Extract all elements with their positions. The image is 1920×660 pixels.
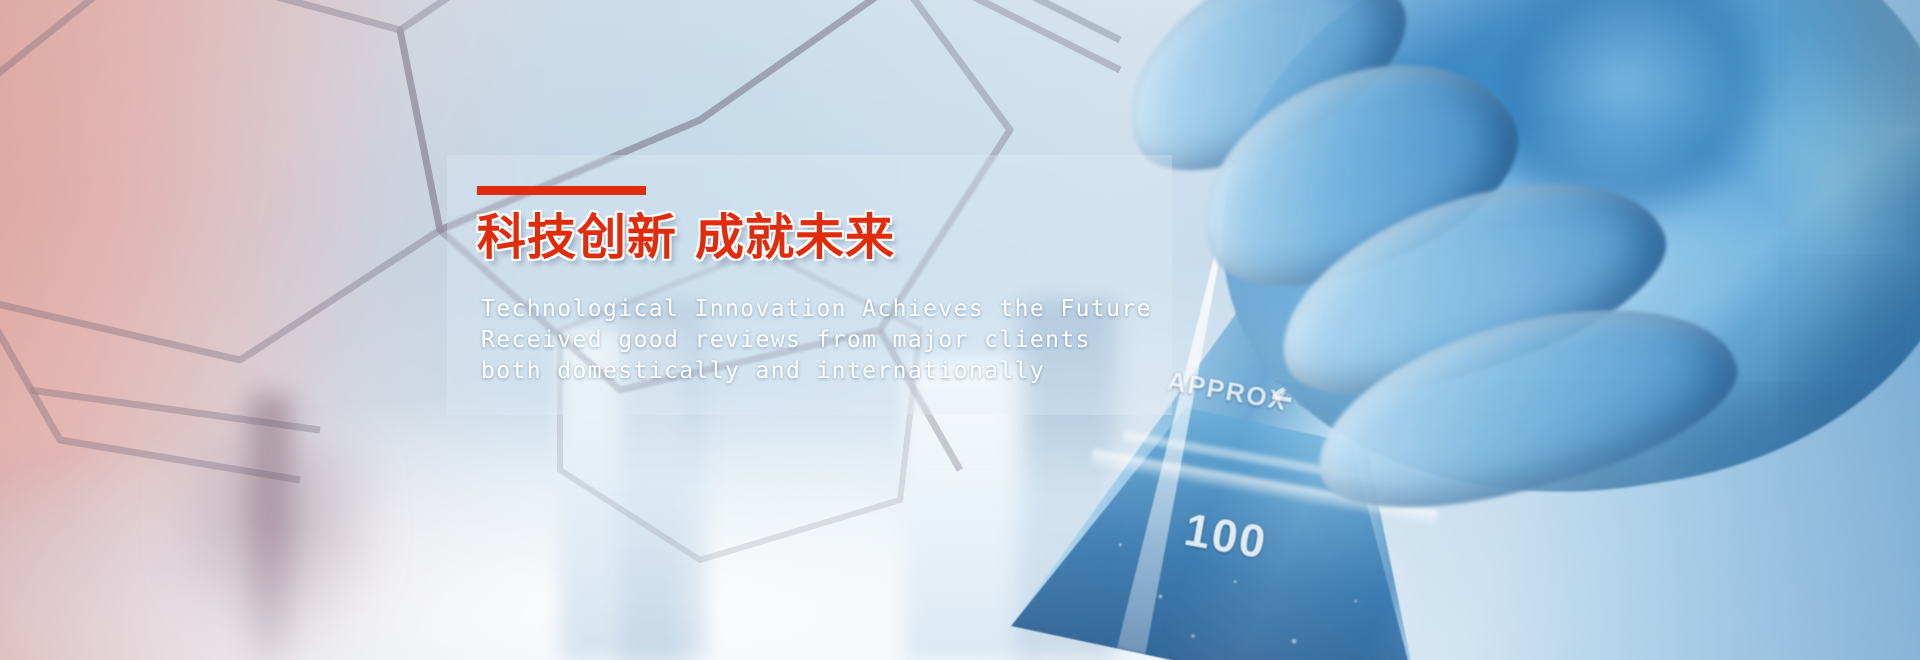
headline-chinese: 科技创新 成就未来 bbox=[477, 210, 895, 267]
subheadline-english: Technological Innovation Achieves the Fu… bbox=[481, 294, 1152, 387]
hero-banner: APPROX 20 100 科技创新 成就未来 Technological In… bbox=[0, 0, 1920, 660]
subheadline-line-1: Technological Innovation Achieves the Fu… bbox=[481, 294, 1152, 325]
accent-bar bbox=[477, 186, 646, 195]
subheadline-line-2: Received good reviews from major clients bbox=[481, 325, 1152, 356]
subheadline-line-3: both domestically and internationally bbox=[481, 356, 1152, 387]
